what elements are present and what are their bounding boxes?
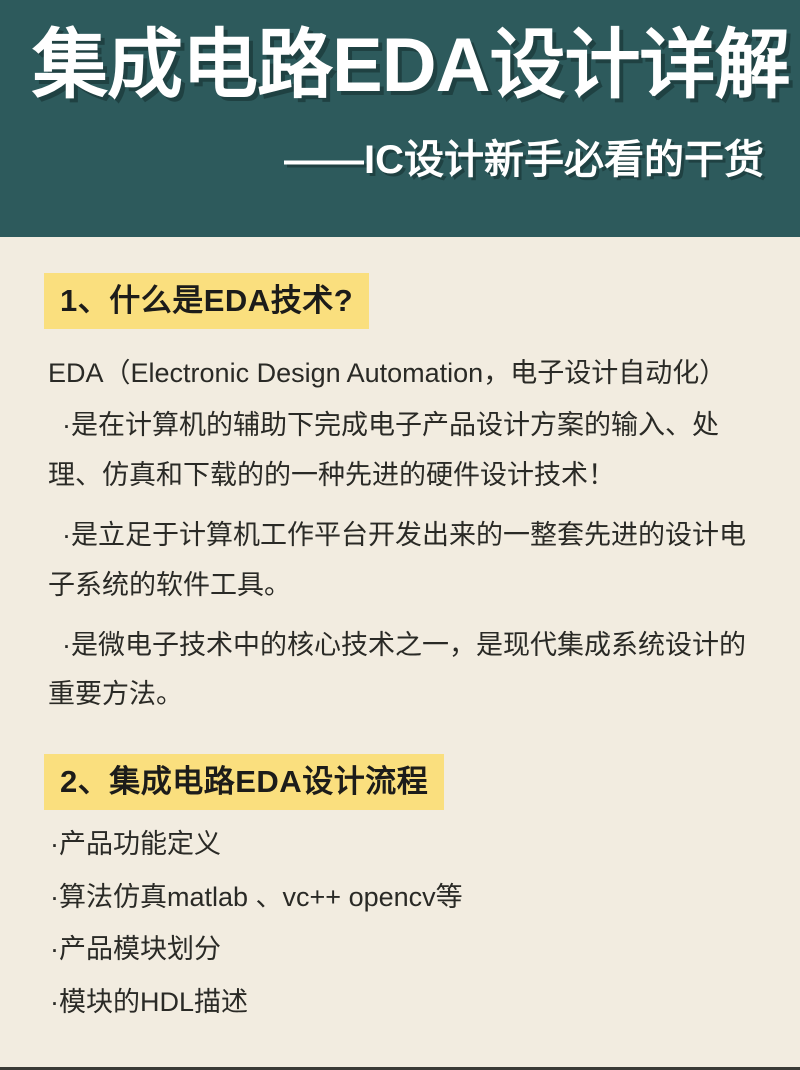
list-item: ·是立足于计算机工作平台开发出来的一整套先进的设计电子系统的软件工具。 [48, 511, 764, 611]
section-2-heading: 2、集成电路EDA设计流程 [44, 754, 444, 810]
list-item: ·产品功能定义 [50, 826, 764, 862]
poster-root: 集成电路EDA设计详解 ——IC设计新手必看的干货 1、什么是EDA技术? ED… [0, 0, 800, 1070]
list-item: ·产品模块划分 [50, 931, 764, 967]
list-item: ·算法仿真matlab 、vc++ opencv等 [50, 879, 764, 915]
page-title: 集成电路EDA设计详解 [32, 28, 778, 104]
list-item: ·是在计算机的辅助下完成电子产品设计方案的输入、处理、仿真和下载的的一种先进的硬… [48, 401, 764, 501]
content-area: 1、什么是EDA技术? EDA（Electronic Design Automa… [0, 237, 800, 1067]
section-2-heading-row: 2、集成电路EDA设计流程 [44, 754, 764, 810]
section-eda-design-flow: 2、集成电路EDA设计流程 ·产品功能定义 ·算法仿真matlab 、vc++ … [36, 754, 764, 1020]
page-subtitle: ——IC设计新手必看的干货 [22, 140, 764, 180]
section-1-heading: 1、什么是EDA技术? [44, 273, 369, 329]
section-what-is-eda: 1、什么是EDA技术? EDA（Electronic Design Automa… [36, 273, 764, 720]
header-banner: 集成电路EDA设计详解 ——IC设计新手必看的干货 [0, 0, 800, 237]
section-1-lead-text: EDA（Electronic Design Automation，电子设计自动化… [48, 357, 764, 391]
section-1-heading-row: 1、什么是EDA技术? [44, 273, 764, 329]
list-item: ·模块的HDL描述 [50, 984, 764, 1020]
list-item: ·是微电子技术中的核心技术之一，是现代集成系统设计的重要方法。 [48, 621, 764, 721]
section-2-bullet-list: ·产品功能定义 ·算法仿真matlab 、vc++ opencv等 ·产品模块划… [36, 826, 764, 1020]
section-1-bullet-list: ·是在计算机的辅助下完成电子产品设计方案的输入、处理、仿真和下载的的一种先进的硬… [36, 401, 764, 721]
